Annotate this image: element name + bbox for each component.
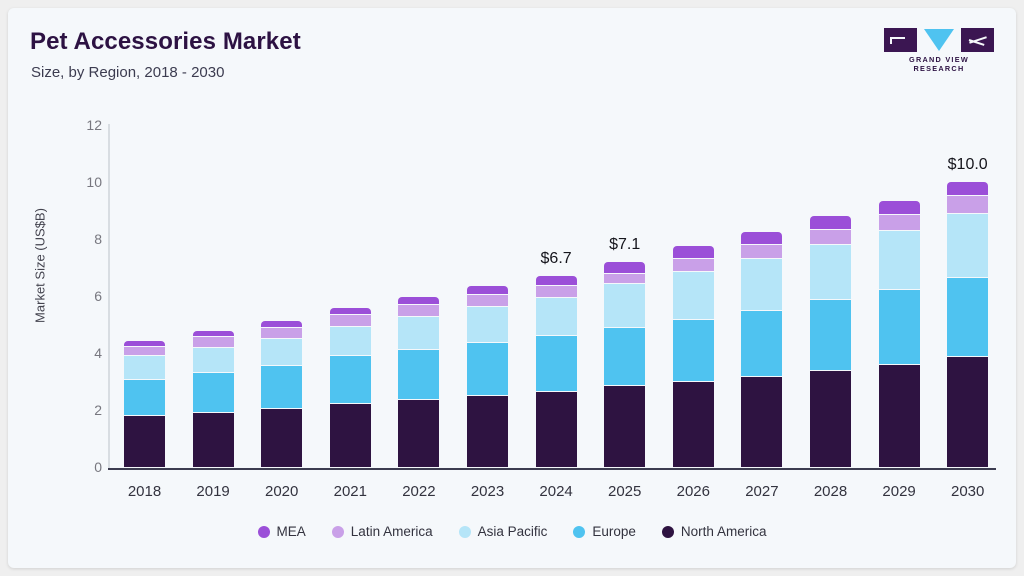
bar-segment-2025-north-america[interactable] [604, 386, 645, 467]
y-axis-tick-10: 10 [68, 174, 102, 190]
x-axis-tick-2021: 2021 [316, 483, 385, 500]
chart-legend: MEALatin AmericaAsia PacificEuropeNorth … [8, 524, 1016, 539]
bar-group-2022[interactable] [398, 8, 439, 468]
bar-segment-2028-asia-pacific[interactable] [810, 245, 851, 300]
bar-segment-2027-asia-pacific[interactable] [741, 259, 782, 310]
legend-label: North America [681, 524, 767, 539]
bar-segment-2019-europe[interactable] [193, 373, 234, 412]
y-axis-tick-6: 6 [68, 288, 102, 304]
bar-segment-2029-north-america[interactable] [879, 365, 920, 467]
legend-swatch-icon [258, 526, 270, 538]
bar-segment-2025-latin-america[interactable] [604, 274, 645, 284]
bar-segment-2025-europe[interactable] [604, 328, 645, 385]
bar-group-2024[interactable] [536, 8, 577, 468]
bar-segment-2029-latin-america[interactable] [879, 215, 920, 230]
legend-label: Latin America [351, 524, 433, 539]
bar-segment-2018-asia-pacific[interactable] [124, 356, 165, 379]
bar-segment-2029-mea[interactable] [879, 201, 920, 214]
legend-item-north-america[interactable]: North America [662, 524, 767, 539]
bar-segment-2020-europe[interactable] [261, 366, 302, 408]
legend-item-mea[interactable]: MEA [258, 524, 306, 539]
bar-segment-2027-latin-america[interactable] [741, 245, 782, 258]
bar-segment-2026-north-america[interactable] [673, 382, 714, 467]
bar-segment-2027-north-america[interactable] [741, 377, 782, 467]
x-axis-tick-2024: 2024 [522, 483, 591, 500]
bar-segment-2030-mea[interactable] [947, 182, 988, 196]
legend-swatch-icon [332, 526, 344, 538]
bar-value-label-2024: $6.7 [522, 250, 591, 268]
bar-segment-2021-europe[interactable] [330, 356, 371, 403]
bar-segment-2023-mea[interactable] [467, 286, 508, 294]
chart-card: Pet Accessories Market Size, by Region, … [8, 8, 1016, 568]
bar-segment-2021-latin-america[interactable] [330, 315, 371, 325]
bar-segment-2020-asia-pacific[interactable] [261, 339, 302, 365]
bar-segment-2021-north-america[interactable] [330, 404, 371, 467]
y-axis-label: Market Size (US$B) [33, 186, 48, 346]
legend-item-latin-america[interactable]: Latin America [332, 524, 433, 539]
y-axis-tick-2: 2 [68, 402, 102, 418]
legend-swatch-icon [459, 526, 471, 538]
x-axis-tick-2030: 2030 [933, 483, 1002, 500]
bar-segment-2021-mea[interactable] [330, 308, 371, 314]
bar-segment-2019-asia-pacific[interactable] [193, 348, 234, 373]
bar-segment-2030-europe[interactable] [947, 278, 988, 355]
bar-segment-2030-latin-america[interactable] [947, 196, 988, 213]
legend-label: Asia Pacific [478, 524, 548, 539]
bar-segment-2024-north-america[interactable] [536, 392, 577, 467]
x-axis-tick-2027: 2027 [727, 483, 796, 500]
x-axis-tick-2023: 2023 [453, 483, 522, 500]
bar-segment-2023-europe[interactable] [467, 343, 508, 395]
bar-segment-2020-mea[interactable] [261, 321, 302, 327]
bar-group-2020[interactable] [261, 8, 302, 468]
y-axis-tick-12: 12 [68, 117, 102, 133]
bar-segment-2027-europe[interactable] [741, 311, 782, 376]
bar-segment-2018-north-america[interactable] [124, 416, 165, 467]
bar-segment-2024-asia-pacific[interactable] [536, 298, 577, 336]
bar-segment-2019-latin-america[interactable] [193, 337, 234, 346]
legend-swatch-icon [573, 526, 585, 538]
y-axis-tick-8: 8 [68, 231, 102, 247]
bar-value-label-2030: $10.0 [933, 156, 1002, 174]
legend-swatch-icon [662, 526, 674, 538]
bar-segment-2023-latin-america[interactable] [467, 295, 508, 307]
bar-group-2018[interactable] [124, 8, 165, 468]
bar-segment-2020-north-america[interactable] [261, 409, 302, 467]
bar-segment-2026-europe[interactable] [673, 320, 714, 381]
bar-segment-2022-north-america[interactable] [398, 400, 439, 467]
bar-value-label-2025: $7.1 [590, 236, 659, 254]
bar-segment-2025-asia-pacific[interactable] [604, 284, 645, 327]
bar-segment-2023-north-america[interactable] [467, 396, 508, 467]
y-axis-tick-4: 4 [68, 345, 102, 361]
bar-segment-2020-latin-america[interactable] [261, 328, 302, 338]
bar-segment-2029-europe[interactable] [879, 290, 920, 364]
bar-segment-2030-asia-pacific[interactable] [947, 214, 988, 277]
x-axis-tick-2028: 2028 [796, 483, 865, 500]
x-axis-tick-2020: 2020 [247, 483, 316, 500]
bar-segment-2028-north-america[interactable] [810, 371, 851, 467]
x-axis-tick-2029: 2029 [865, 483, 934, 500]
y-axis-tick-0: 0 [68, 459, 102, 475]
bar-segment-2026-mea[interactable] [673, 246, 714, 258]
bar-segment-2027-mea[interactable] [741, 232, 782, 244]
legend-item-asia-pacific[interactable]: Asia Pacific [459, 524, 548, 539]
bar-segment-2019-north-america[interactable] [193, 413, 234, 467]
bar-segment-2018-mea[interactable] [124, 341, 165, 346]
bar-segment-2029-asia-pacific[interactable] [879, 231, 920, 289]
bar-segment-2018-europe[interactable] [124, 380, 165, 415]
x-axis-tick-2025: 2025 [590, 483, 659, 500]
bar-segment-2022-europe[interactable] [398, 350, 439, 399]
bar-segment-2022-asia-pacific[interactable] [398, 317, 439, 349]
bar-segment-2024-europe[interactable] [536, 336, 577, 391]
legend-label: MEA [277, 524, 306, 539]
bar-segment-2022-mea[interactable] [398, 297, 439, 304]
bar-segment-2028-latin-america[interactable] [810, 230, 851, 244]
bar-group-2026[interactable] [673, 8, 714, 468]
x-axis-tick-2018: 2018 [110, 483, 179, 500]
x-axis-tick-2026: 2026 [659, 483, 728, 500]
bar-segment-2030-north-america[interactable] [947, 357, 988, 467]
bar-segment-2024-latin-america[interactable] [536, 286, 577, 297]
x-axis-line [108, 468, 996, 470]
bar-group-2029[interactable] [879, 8, 920, 468]
bar-segment-2021-asia-pacific[interactable] [330, 327, 371, 356]
y-axis-line [108, 124, 110, 469]
bar-segment-2023-asia-pacific[interactable] [467, 307, 508, 342]
bar-group-2030[interactable] [947, 8, 988, 468]
stacked-bar-chart: Market Size (US$B) 024681012201820192020… [8, 8, 1016, 568]
bar-segment-2019-mea[interactable] [193, 331, 234, 336]
bar-segment-2022-latin-america[interactable] [398, 305, 439, 316]
x-axis-tick-2022: 2022 [384, 483, 453, 500]
bar-segment-2024-mea[interactable] [536, 276, 577, 285]
bar-group-2027[interactable] [741, 8, 782, 468]
bar-segment-2025-mea[interactable] [604, 262, 645, 273]
bar-segment-2018-latin-america[interactable] [124, 347, 165, 356]
bar-segment-2026-latin-america[interactable] [673, 259, 714, 271]
bar-group-2019[interactable] [193, 8, 234, 468]
legend-label: Europe [592, 524, 636, 539]
bar-segment-2028-mea[interactable] [810, 216, 851, 229]
x-axis-tick-2019: 2019 [179, 483, 248, 500]
bar-group-2028[interactable] [810, 8, 851, 468]
bar-segment-2028-europe[interactable] [810, 300, 851, 370]
legend-item-europe[interactable]: Europe [573, 524, 636, 539]
bar-segment-2026-asia-pacific[interactable] [673, 272, 714, 319]
bar-group-2023[interactable] [467, 8, 508, 468]
bar-group-2021[interactable] [330, 8, 371, 468]
